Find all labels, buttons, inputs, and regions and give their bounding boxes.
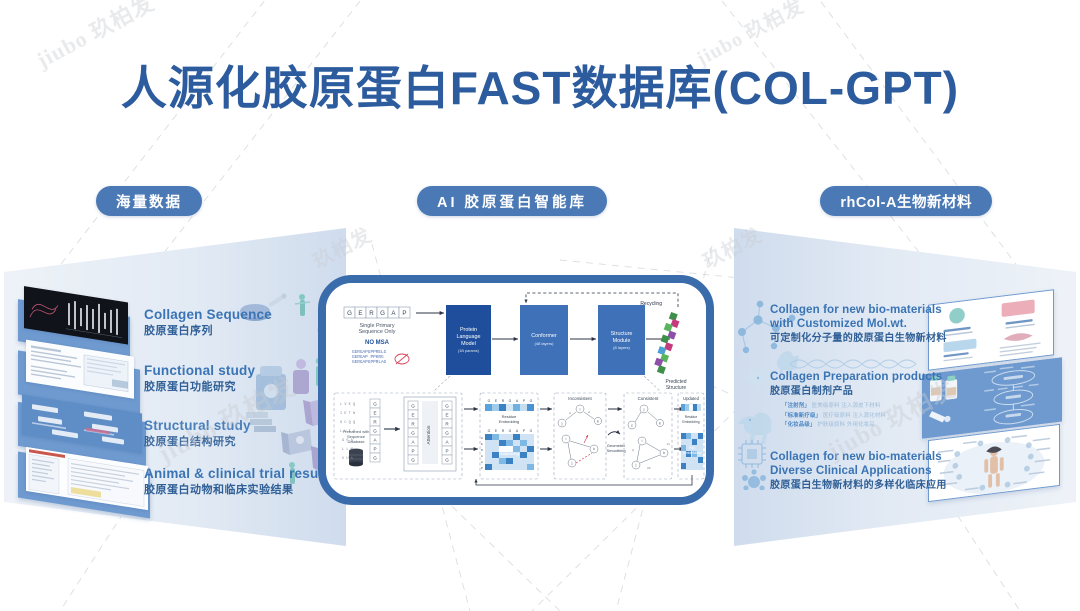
- svg-text:P: P: [373, 447, 376, 452]
- left-item-1-cn: 胶原蛋白功能研究: [144, 380, 255, 395]
- svg-text:j: j: [561, 421, 563, 425]
- svg-text:G: G: [380, 310, 385, 317]
- left-item-1-en: Functional study: [144, 363, 255, 379]
- right-item-0: Collagen for new bio-materials with Cust…: [770, 303, 947, 345]
- right-item-1-sublist: 「注射剂」 医美级原料 注入源皮下材料 「标准新疗级」 医疗级原料 注入源化材料…: [782, 402, 942, 431]
- center-diagram-frame[interactable]: GER GAP Single Primary Sequence Only NO …: [318, 275, 714, 505]
- left-item-0: Collagen Sequence 胶原蛋白序列: [144, 307, 272, 339]
- svg-text:j: j: [571, 461, 573, 465]
- svg-text:V U A: V U A: [342, 457, 354, 461]
- left-item-3-cn: 胶原蛋白动物和临床实验结果: [144, 483, 335, 498]
- svg-text:G: G: [411, 458, 415, 463]
- left-item-2: Structural study 胶原蛋白结构研究: [144, 418, 251, 450]
- svg-text:A: A: [481, 461, 483, 464]
- svg-text:E: E: [411, 413, 414, 418]
- right-item-1-sub-2: 「化妆品级」 护肤级原料 外用化妆品: [782, 421, 942, 431]
- svg-text:t'ik: t'ik: [647, 466, 651, 470]
- svg-text:(8 layers): (8 layers): [613, 345, 630, 350]
- right-item-1-sub-0: 「注射剂」 医美级原料 注入源皮下材料: [782, 402, 942, 412]
- svg-text:Pair: Pair: [689, 446, 696, 450]
- svg-text:Module: Module: [613, 338, 631, 344]
- right-item-0-cn: 可定制化分子量的胶原蛋白生物新材料: [770, 332, 947, 345]
- svg-text:Structure: Structure: [611, 331, 633, 337]
- svg-text:G: G: [488, 399, 491, 403]
- svg-text:Embedding: Embedding: [683, 451, 700, 455]
- svg-text:P: P: [445, 449, 448, 454]
- svg-text:G: G: [481, 455, 483, 458]
- svg-text:Embedding: Embedding: [682, 420, 699, 424]
- page-title: 人源化胶原蛋白FAST数据库(COL-GPT): [0, 52, 1080, 118]
- svg-text:L L M: L L M: [342, 448, 353, 452]
- right-item-0-en2: with Customized Mol.wt.: [770, 317, 947, 331]
- svg-text:Sequence Only: Sequence Only: [359, 329, 396, 335]
- svg-text:G: G: [411, 431, 415, 436]
- svg-text:E: E: [445, 413, 448, 418]
- left-item-2-cn: 胶原蛋白结构研究: [144, 435, 251, 450]
- left-item-0-cn: 胶原蛋白序列: [144, 324, 272, 339]
- left-item-0-en: Collagen Sequence: [144, 307, 272, 323]
- svg-text:E: E: [373, 411, 376, 416]
- section-pill-ai-library[interactable]: AI 胶原蛋白智能库: [417, 186, 607, 216]
- svg-text:G: G: [530, 429, 533, 433]
- svg-text:t'j: t'j: [632, 448, 634, 452]
- svg-text:k: k: [597, 419, 599, 423]
- left-item-3: Animal & clinical trial results 胶原蛋白动物和临…: [144, 466, 335, 498]
- right-item-2-en1: Collagen for new bio-materials: [770, 450, 947, 464]
- svg-text:Updated: Updated: [683, 396, 700, 401]
- svg-text:NO MSA: NO MSA: [365, 340, 390, 346]
- svg-text:G: G: [530, 399, 533, 403]
- svg-text:Recycling: Recycling: [640, 301, 662, 307]
- svg-text:j: j: [643, 407, 645, 411]
- svg-text:G: G: [481, 437, 483, 440]
- right-item-2-cn: 胶原蛋白生物新材料的多样化临床应用: [770, 479, 947, 492]
- svg-text:G: G: [347, 310, 352, 317]
- right-item-2: Collagen for new bio-materials Diverse C…: [770, 450, 947, 492]
- svg-text:G: G: [445, 431, 449, 436]
- svg-text:P: P: [481, 467, 483, 470]
- svg-text:Protein: Protein: [460, 327, 477, 333]
- right-item-1-cn: 胶原蛋白制剂产品: [770, 385, 942, 398]
- svg-text:G: G: [445, 458, 449, 463]
- svg-text:k'j: k'j: [667, 442, 670, 446]
- left-item-3-en: Animal & clinical trial results: [144, 466, 335, 482]
- svg-text:E: E: [358, 310, 362, 317]
- svg-text:j: j: [635, 463, 637, 467]
- svg-text:(48 layers): (48 layers): [535, 341, 555, 346]
- left-item-2-en: Structural study: [144, 418, 251, 434]
- box-conformer: [520, 305, 568, 375]
- svg-text:Structure: Structure: [666, 385, 687, 391]
- svg-text:G: G: [373, 456, 377, 461]
- svg-text:G: G: [445, 404, 449, 409]
- svg-text:Conformer: Conformer: [531, 333, 557, 339]
- svg-text:G: G: [373, 429, 377, 434]
- svg-text:R: R: [369, 310, 374, 317]
- box-protein-language-model: [446, 305, 491, 375]
- svg-text:G: G: [509, 399, 512, 403]
- svg-text:G F A: G F A: [342, 439, 354, 443]
- updated-residue-strip: [681, 404, 701, 411]
- right-item-1-en1: Collagen Preparation products: [770, 370, 942, 384]
- svg-text:GERGAPGPPRLAG: GERGAPGPPRLAG: [352, 360, 387, 365]
- center-diagram-canvas: GER GAP Single Primary Sequence Only NO …: [326, 283, 706, 497]
- svg-text:G: G: [411, 404, 415, 409]
- right-item-2-en2: Diverse Clinical Applications: [770, 464, 947, 478]
- svg-text:Consistent: Consistent: [638, 396, 660, 401]
- sequence-token-row: GER GAP: [344, 307, 410, 318]
- svg-text:R: R: [481, 449, 483, 452]
- svg-text:Attention: Attention: [426, 425, 432, 444]
- svg-text:Model: Model: [461, 341, 476, 347]
- svg-text:L V I V: L V I V: [340, 430, 356, 434]
- right-item-0-en1: Collagen for new bio-materials: [770, 303, 947, 317]
- svg-text:Residue: Residue: [685, 415, 698, 419]
- svg-text:Embedding: Embedding: [499, 419, 519, 424]
- svg-text:I E T N: I E T N: [340, 412, 355, 416]
- svg-text:Language: Language: [457, 334, 481, 340]
- svg-text:Inconsistent: Inconsistent: [568, 396, 592, 401]
- svg-text:G: G: [373, 402, 377, 407]
- svg-text:P: P: [402, 310, 406, 317]
- svg-text:G: G: [488, 429, 491, 433]
- svg-text:G: G: [509, 429, 512, 433]
- svg-text:G C Q Q: G C Q Q: [340, 421, 355, 425]
- svg-text:c: c: [631, 423, 633, 427]
- svg-text:k: k: [659, 421, 661, 425]
- residue-embedding-strip: [485, 404, 534, 411]
- svg-text:L V E Q: L V E Q: [340, 403, 355, 407]
- svg-text:(1B params): (1B params): [458, 349, 480, 353]
- svg-text:E: E: [481, 443, 483, 446]
- right-item-1: Collagen Preparation products 胶原蛋白制剂产品 「…: [770, 370, 942, 431]
- section-pill-massive-data[interactable]: 海量数据: [96, 186, 202, 216]
- svg-text:Embedding: Embedding: [499, 451, 519, 456]
- right-item-1-sub-1: 「标准新疗级」 医疗级原料 注入源化材料: [782, 412, 942, 422]
- left-item-1: Functional study 胶原蛋白功能研究: [144, 363, 255, 395]
- section-pill-new-materials[interactable]: rhCol-A生物新材料: [820, 186, 992, 216]
- svg-text:Smoothing: Smoothing: [606, 448, 625, 453]
- svg-text:P: P: [411, 449, 414, 454]
